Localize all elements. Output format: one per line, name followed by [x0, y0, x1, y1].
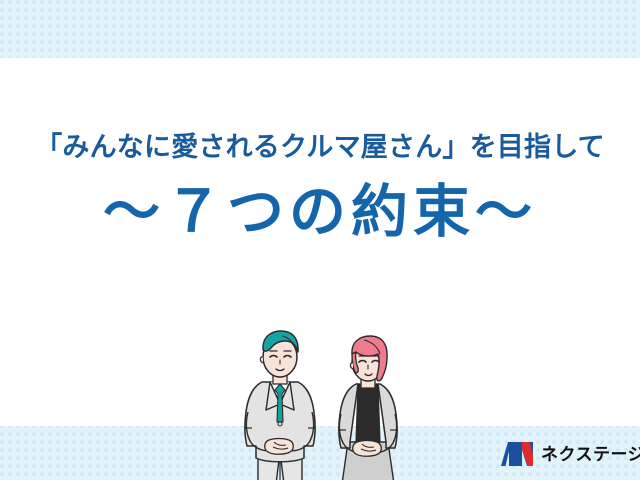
nextage-logo: ネクステージ [500, 438, 640, 470]
nextage-logo-text: ネクステージ [541, 446, 640, 463]
two-bowing-staff-illustration [240, 330, 416, 480]
headline-line-1: 「みんなに愛されるクルマ屋さん」を目指して [0, 134, 640, 161]
male-staff-figure [244, 331, 316, 480]
nextage-n-mark-icon [500, 441, 534, 467]
poster-canvas: 「みんなに愛されるクルマ屋さん」を目指して ～７つの約束～ [0, 0, 640, 480]
white-content-panel: 「みんなに愛されるクルマ屋さん」を目指して ～７つの約束～ [0, 58, 640, 426]
headline-line-2: ～７つの約束～ [0, 184, 640, 241]
female-staff-figure [338, 336, 398, 480]
